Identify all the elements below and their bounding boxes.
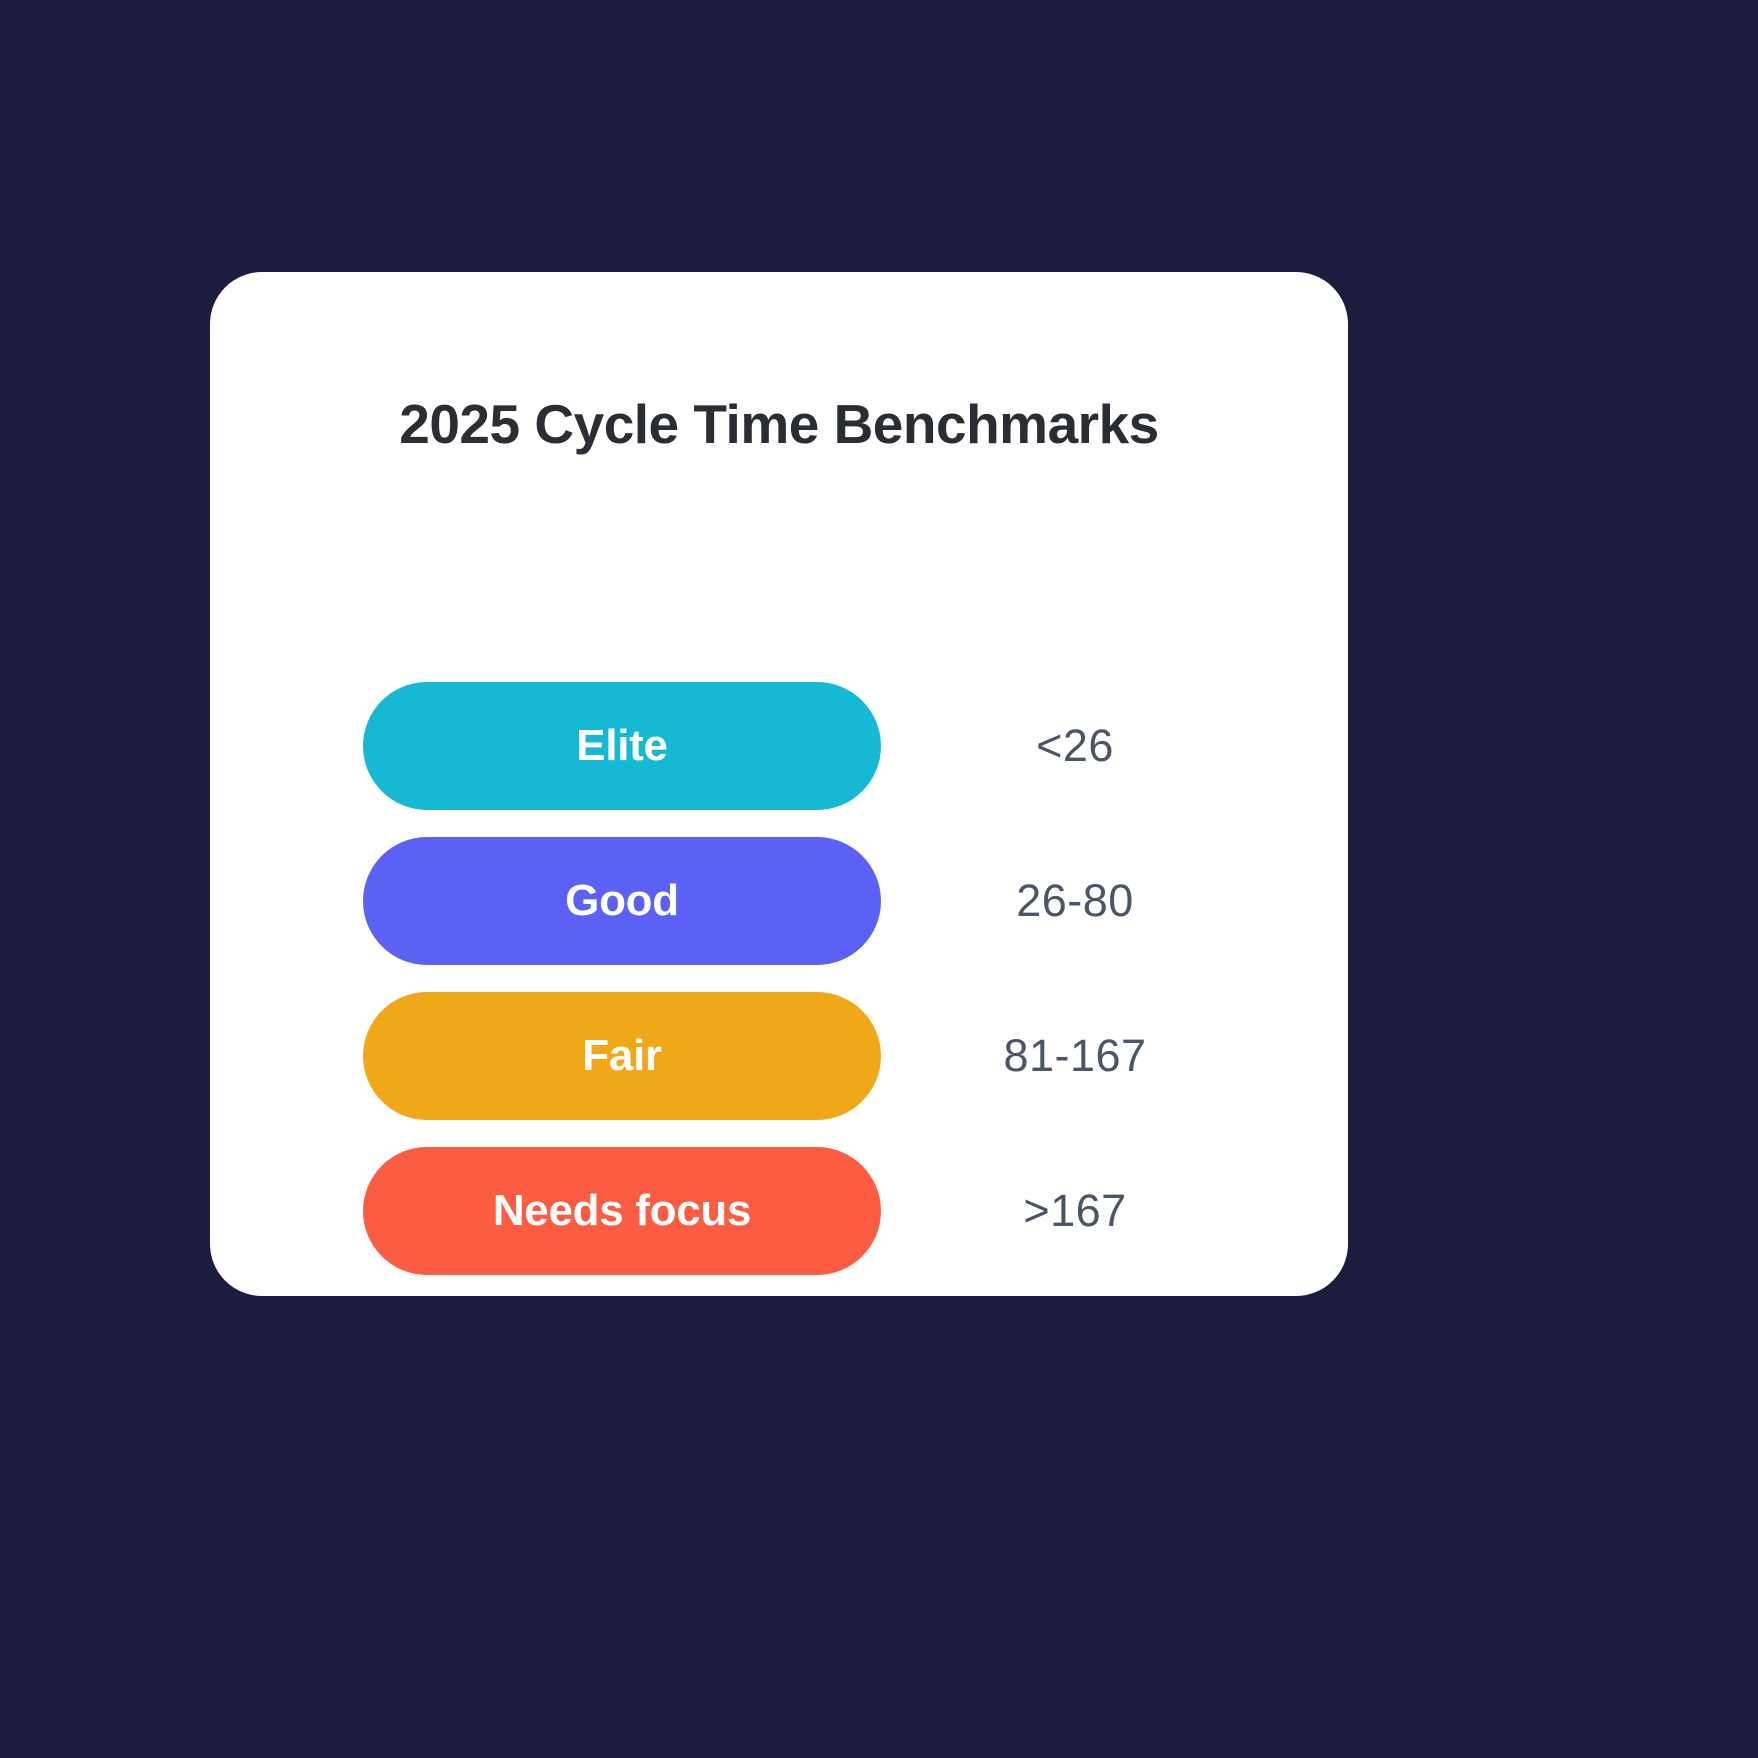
benchmark-value-fair: 81-167 [910,992,1240,1120]
benchmark-pill-label: Needs focus [493,1189,751,1233]
benchmark-rows-list: Elite <26 Good 26-80 Fair 81-167 [210,682,1348,1302]
page-title: 2025 Cycle Time Benchmarks [210,394,1348,455]
benchmark-pill-good[interactable]: Good [363,837,881,965]
benchmark-value-elite: <26 [910,682,1240,810]
benchmark-value-good: 26-80 [910,837,1240,965]
benchmark-pill-label: Fair [582,1034,662,1078]
benchmark-row: Fair 81-167 [210,992,1348,1147]
page-canvas: 2025 Cycle Time Benchmarks Elite <26 Goo… [0,0,1758,1758]
benchmark-row: Good 26-80 [210,837,1348,992]
benchmark-pill-label: Good [565,879,679,923]
benchmark-row: Elite <26 [210,682,1348,837]
benchmark-pill-fair[interactable]: Fair [363,992,881,1120]
benchmark-pill-needs-focus[interactable]: Needs focus [363,1147,881,1275]
benchmark-pill-elite[interactable]: Elite [363,682,881,810]
benchmark-row: Needs focus >167 [210,1147,1348,1302]
benchmark-pill-label: Elite [576,724,667,768]
benchmark-value-needs-focus: >167 [910,1147,1240,1275]
benchmark-card: 2025 Cycle Time Benchmarks Elite <26 Goo… [210,272,1348,1296]
